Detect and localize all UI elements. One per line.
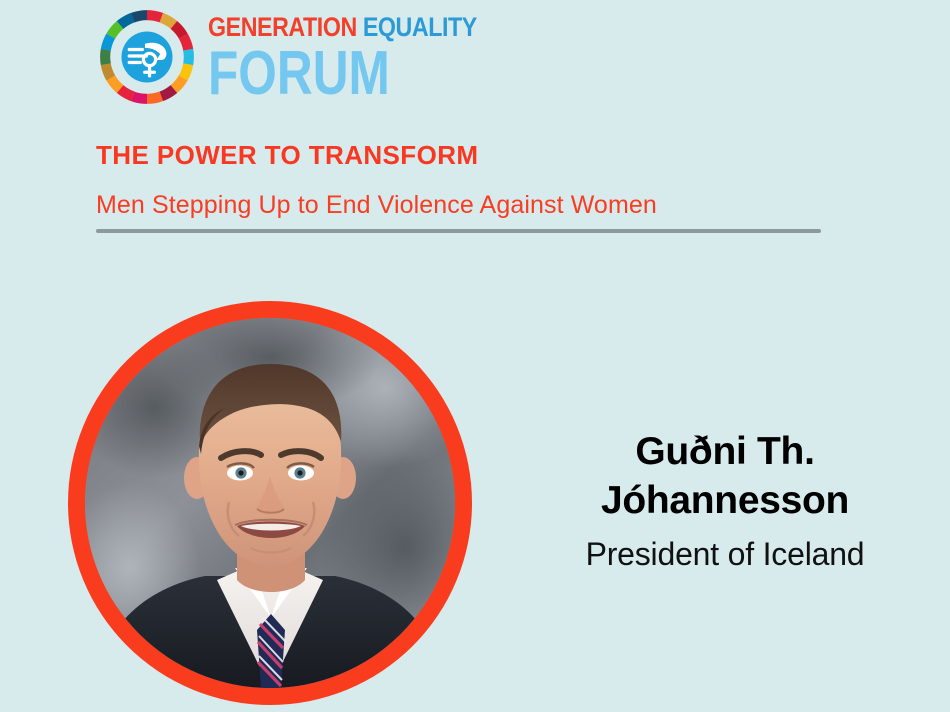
generation-equality-forum-logo: GENERATION EQUALITY FORUM <box>96 6 521 108</box>
forum-wordmark: GENERATION EQUALITY FORUM <box>208 10 521 105</box>
presentation-slide: GENERATION EQUALITY FORUM THE POWER TO T… <box>0 0 950 712</box>
speaker-name-line-2: Jóhannesson <box>500 477 950 526</box>
speaker-role: President of Iceland <box>500 534 950 576</box>
speaker-portrait-photo <box>85 318 455 688</box>
wordmark-equality: EQUALITY <box>363 12 477 42</box>
wordmark-line-generation-equality: GENERATION EQUALITY <box>208 14 477 41</box>
speaker-details: Guðni Th. Jóhannesson President of Icela… <box>500 428 950 575</box>
wordmark-forum: FORUM <box>208 43 458 105</box>
speaker-name: Guðni Th. Jóhannesson <box>500 428 950 526</box>
title-divider <box>96 229 821 233</box>
event-subtitle: Men Stepping Up to End Violence Against … <box>96 191 657 220</box>
sdg-color-wheel-icon <box>96 6 198 108</box>
event-title: THE POWER TO TRANSFORM <box>96 140 478 171</box>
speaker-portrait-ring <box>68 301 472 705</box>
wordmark-generation: GENERATION <box>208 12 357 42</box>
speaker-name-line-1: Guðni Th. <box>500 428 950 477</box>
